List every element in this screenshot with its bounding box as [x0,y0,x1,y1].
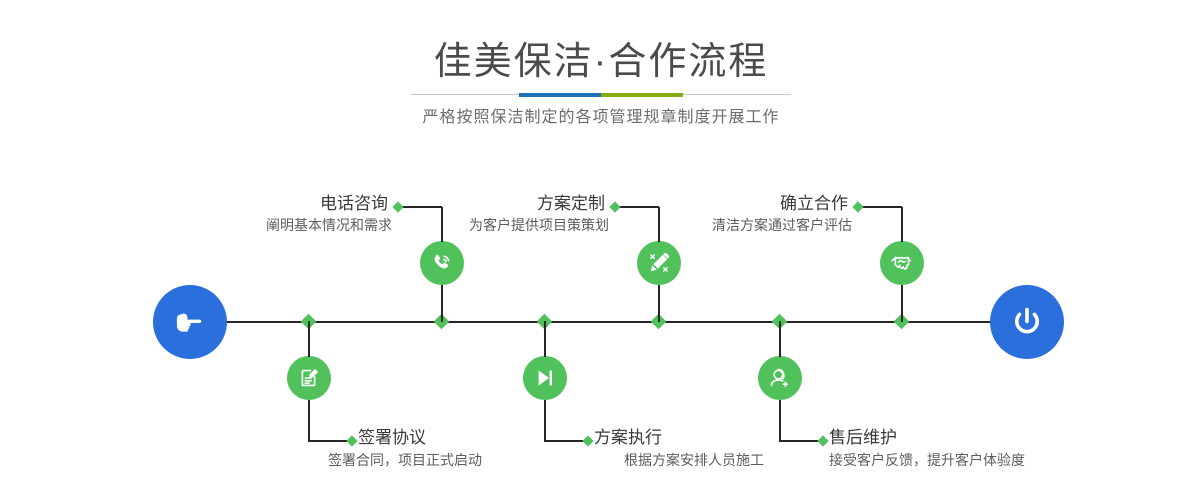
pencil-ruler-icon [646,250,672,276]
step-leader-dot-2 [346,435,357,446]
flow-diagram-page: 佳美保洁·合作流程 严格按照保洁制定的各项管理规章制度开展工作 [0,0,1202,502]
step-stem-5 [779,321,781,357]
step-node-1 [420,241,464,285]
step-desc-3: 为客户提供项目策策划 [325,215,609,235]
step-leader-dot-6 [852,201,863,212]
page-subtitle: 严格按照保洁制定的各项管理规章制度开展工作 [0,105,1202,131]
pointing-hand-icon [170,302,210,342]
handshake-icon [889,250,915,276]
step-stem-4 [544,321,546,357]
step-title-2: 签署协议 [358,427,588,449]
step-node-4 [523,356,567,400]
step-node-2 [287,356,331,400]
step-title-5: 售后维护 [829,427,1059,449]
divider-segment-blue [519,93,601,97]
play-execute-icon [532,365,558,391]
document-edit-icon [296,365,322,391]
step-title-3: 方案定制 [375,193,605,215]
step-node-3 [637,241,681,285]
step-title-1: 电话咨询 [158,193,388,215]
step-title-6: 确立合作 [618,193,848,215]
step-stem-3b [658,285,660,322]
step-desc-5: 接受客户反馈，提升客户体验度 [829,450,1129,470]
page-title: 佳美保洁·合作流程 [0,38,1202,86]
step-title-4: 方案执行 [594,427,824,449]
step-stem-2 [308,321,310,357]
step-stem-2b [308,400,310,442]
phone-call-icon [429,250,455,276]
step-desc-2: 签署合同，项目正式启动 [328,450,628,470]
step-stem-5b [779,400,781,442]
step-node-5 [758,356,802,400]
step-stem-6b [901,285,903,322]
step-stem-6 [901,207,903,242]
step-leader-6 [858,206,902,208]
step-stem-1b [441,285,443,322]
divider-segment-green [601,93,683,97]
timeline-end-node [990,285,1064,359]
timeline-start-node [153,285,227,359]
power-icon [1007,302,1047,342]
step-desc-6: 清洁方案通过客户评估 [568,215,852,235]
step-node-6 [880,241,924,285]
step-stem-4b [544,400,546,442]
title-divider [411,93,791,97]
headset-support-icon [767,365,793,391]
